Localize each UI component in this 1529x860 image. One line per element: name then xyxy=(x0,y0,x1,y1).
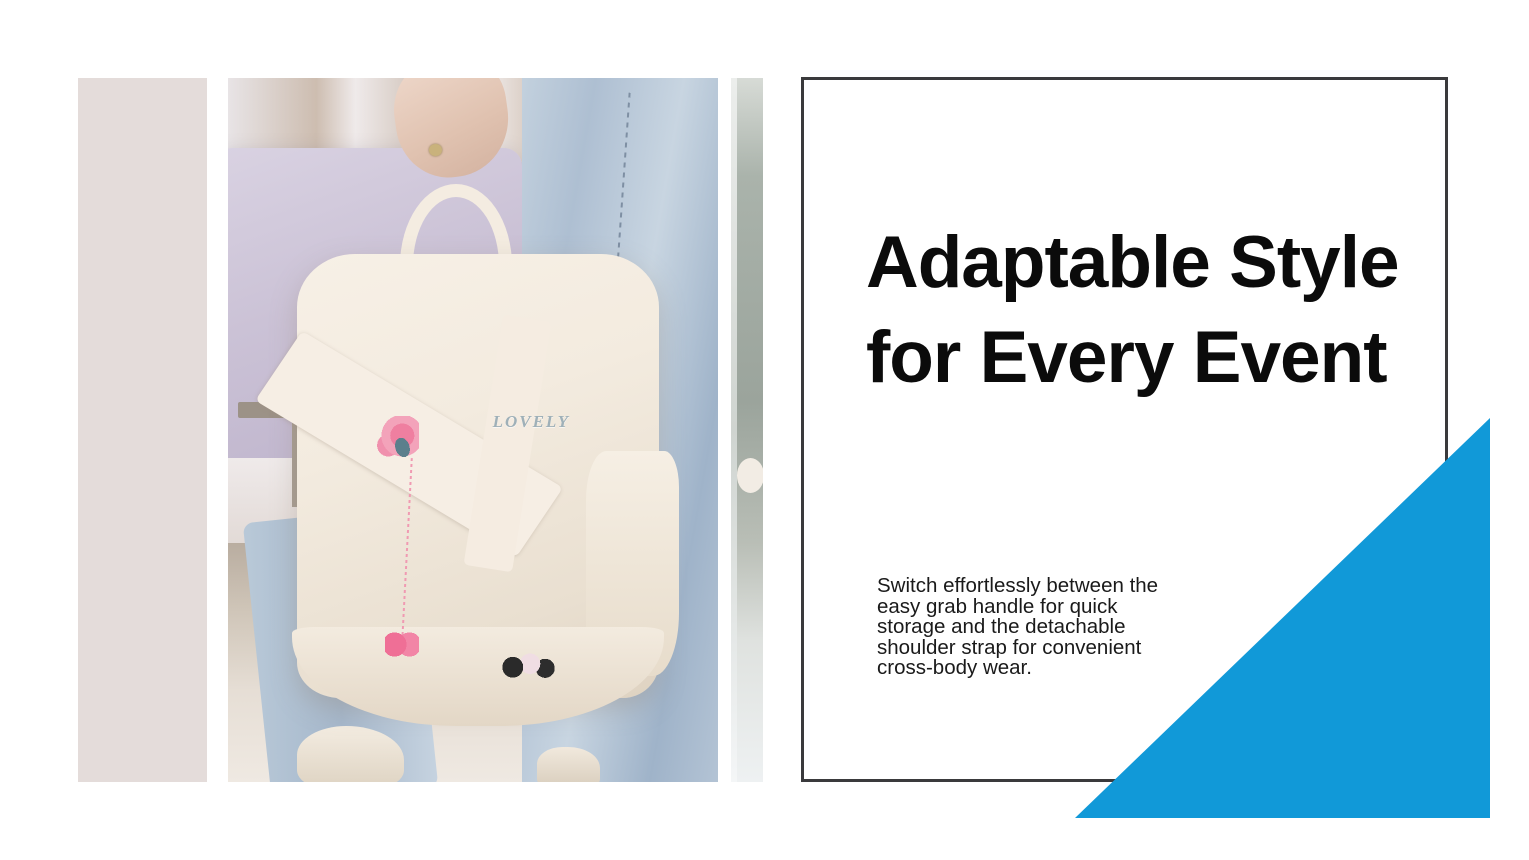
embroidery-dark-flower-icon xyxy=(502,648,556,683)
embroidery-bow-icon xyxy=(385,627,419,662)
beige-accent-panel xyxy=(78,78,207,782)
bag-embroidery-label: LOVELY xyxy=(493,412,630,432)
strip-edge-highlight xyxy=(731,78,737,782)
product-photo: LOVELY xyxy=(228,78,718,782)
slide-canvas: LOVELY Adaptable Style for Every Event S… xyxy=(0,0,1529,860)
slide-title: Adaptable Style for Every Event xyxy=(866,215,1426,405)
strip-object-highlight xyxy=(737,458,763,493)
slide-body-text: Switch effortlessly between the easy gra… xyxy=(877,576,1177,679)
photo-ring xyxy=(429,144,442,156)
product-photo-strip xyxy=(731,78,763,782)
